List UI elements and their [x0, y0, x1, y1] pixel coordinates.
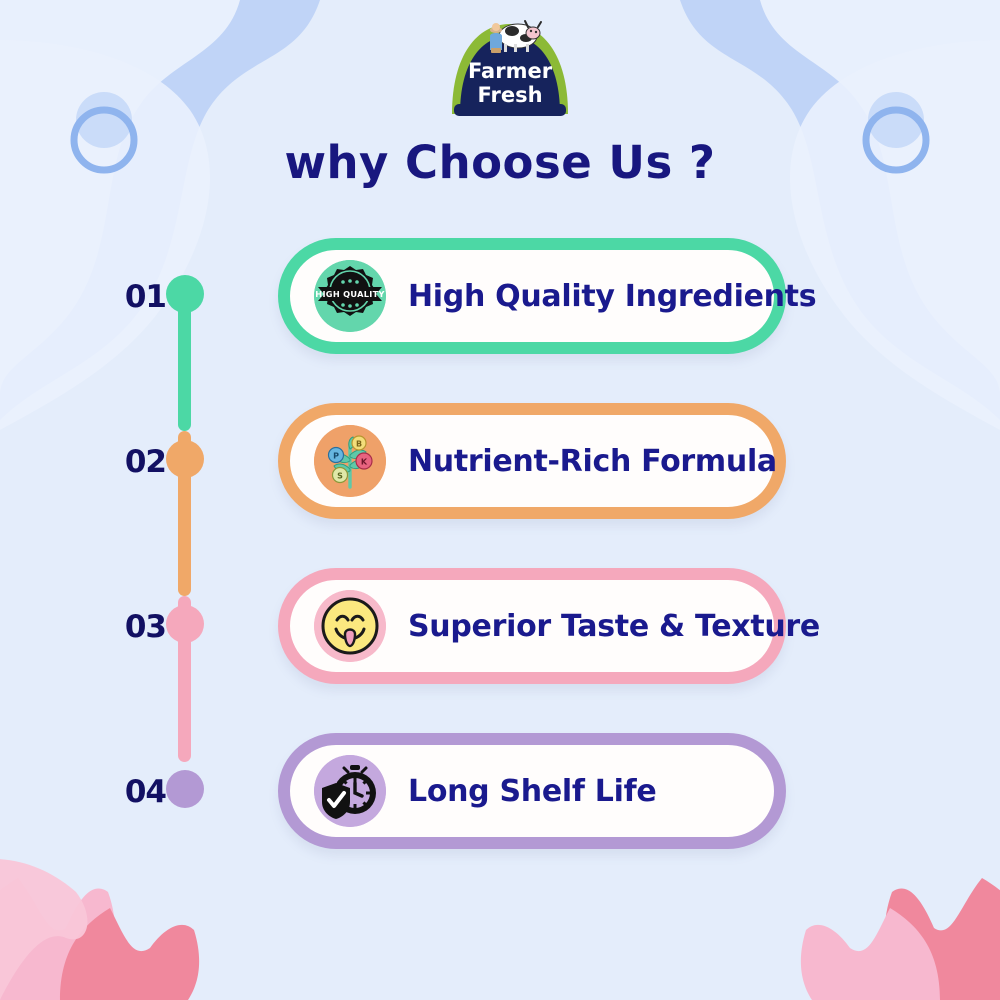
- high-quality-badge-icon: HIGH QUALITY: [314, 260, 386, 332]
- high-quality-badge-text: HIGH QUALITY: [315, 289, 385, 299]
- logo-word-1: Farmer: [468, 59, 553, 83]
- nutrient-k-label: K: [361, 458, 368, 467]
- brand-logo: Farmer Fresh: [440, 6, 580, 118]
- petal-bl-pink-light: [0, 878, 116, 1000]
- timeline-line-1: [178, 293, 191, 431]
- timeline-number-4: 04: [122, 774, 166, 810]
- nutrient-plant-icon: B P K S: [314, 425, 386, 497]
- petal-br-pink-light: [801, 908, 940, 1000]
- wave-top-right-light: [760, 0, 1000, 395]
- feature-row-nutrient-rich[interactable]: B P K S Nutrient-Rich Formula: [278, 403, 786, 519]
- petal-br-purple: [850, 935, 1000, 1000]
- nutrient-s-label: S: [337, 472, 343, 481]
- petal-bl-purple: [0, 935, 150, 1000]
- logo-word-2: Fresh: [477, 83, 542, 107]
- nutrient-b-label: B: [356, 440, 362, 449]
- feature-row-high-quality[interactable]: HIGH QUALITY High Quality Ingredients: [278, 238, 786, 354]
- infographic-canvas: Farmer Fresh why Choose Us ? 01 02 03 04: [0, 0, 1000, 1000]
- timeline-number-3: 03: [122, 609, 166, 645]
- feature-label-superior-taste: Superior Taste & Texture: [408, 609, 820, 644]
- feature-label-long-shelf-life: Long Shelf Life: [408, 774, 656, 809]
- yummy-face-icon: [314, 590, 386, 662]
- timeline-dot-4[interactable]: [166, 770, 204, 808]
- timeline-number-2: 02: [122, 444, 166, 480]
- feature-row-superior-taste[interactable]: Superior Taste & Texture: [278, 568, 786, 684]
- wave-top-right-inner: [790, 40, 1000, 430]
- petal-br-pink-mid: [884, 878, 1000, 1000]
- timeline: 01 02 03 04: [126, 255, 216, 825]
- timeline-number-1: 01: [122, 279, 166, 315]
- wave-top-right-dark: [680, 0, 1000, 420]
- timeline-dot-2[interactable]: [166, 440, 204, 478]
- feature-label-high-quality: High Quality Ingredients: [408, 279, 816, 314]
- feature-label-nutrient-rich: Nutrient-Rich Formula: [408, 444, 777, 479]
- petal-bl-pink-pale: [0, 859, 87, 1000]
- timeline-dot-1[interactable]: [166, 275, 204, 313]
- page-title: why Choose Us ?: [0, 136, 1000, 189]
- feature-row-long-shelf-life[interactable]: Long Shelf Life: [278, 733, 786, 849]
- stopwatch-shield-icon: [314, 755, 386, 827]
- nutrient-p-label: P: [333, 452, 339, 461]
- petal-bl-pink-mid: [60, 908, 199, 1000]
- timeline-dot-3[interactable]: [166, 605, 204, 643]
